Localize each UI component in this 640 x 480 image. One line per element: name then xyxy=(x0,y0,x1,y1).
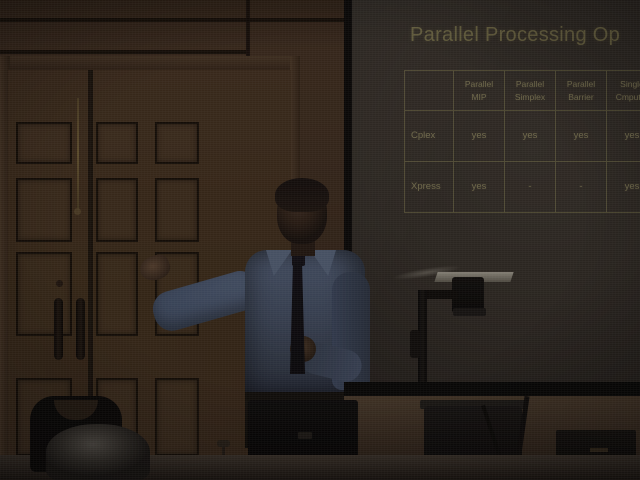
wall-trim-lower xyxy=(0,50,246,54)
microphone-icon xyxy=(217,440,230,447)
table-cell: yes xyxy=(454,111,505,162)
overhead-projector-body xyxy=(424,406,522,462)
table-header-cell-single-computer: Single Cmputer xyxy=(607,71,640,111)
overhead-projector-focus-knob[interactable] xyxy=(410,330,420,358)
presenter-hair xyxy=(275,178,329,212)
table-row-label: Cplex xyxy=(405,111,454,162)
table-cell: - xyxy=(556,162,607,213)
door-panel xyxy=(16,178,72,242)
equipment-indicator xyxy=(590,448,608,452)
table-row-cplex: Cplex yes yes yes yes xyxy=(405,111,640,162)
door-frame-header xyxy=(0,56,300,70)
laptop[interactable] xyxy=(248,400,358,462)
table-header-cell-parallel-mip: Parallel MIP xyxy=(454,71,505,111)
wall-trim-vertical xyxy=(246,0,250,56)
wall-upper-section xyxy=(0,0,360,52)
door-panel xyxy=(96,122,138,164)
header-line-1: Parallel xyxy=(454,78,504,90)
table-cell: yes xyxy=(556,111,607,162)
header-line-1: Parallel xyxy=(505,78,555,90)
overhead-projector-lens xyxy=(453,308,486,316)
table-corner-cell xyxy=(405,71,454,111)
door-handle-right[interactable] xyxy=(76,298,85,360)
door-panel xyxy=(16,122,72,164)
hanging-chain xyxy=(77,98,79,210)
slide-comparison-table: Parallel MIP Parallel Simplex Parallel B… xyxy=(404,70,640,213)
table-cell: yes xyxy=(607,162,640,213)
header-line-1: Single xyxy=(607,78,640,90)
door-panel xyxy=(96,252,138,336)
door-panel xyxy=(96,178,138,242)
table-header-cell-parallel-simplex: Parallel Simplex xyxy=(505,71,556,111)
table-shadow-band xyxy=(344,382,640,396)
table-cell: - xyxy=(505,162,556,213)
door-handle-left[interactable] xyxy=(54,298,63,360)
table-row-label: Xpress xyxy=(405,162,454,213)
audience-member-head xyxy=(46,424,150,480)
door-panel xyxy=(155,122,199,164)
chain-weight xyxy=(74,208,81,215)
header-line-2: MIP xyxy=(454,91,504,103)
header-line-1: Parallel xyxy=(556,78,606,90)
header-line-2: Simplex xyxy=(505,91,555,103)
wall-trim-upper xyxy=(0,18,360,22)
door-lock[interactable] xyxy=(56,280,63,287)
presentation-photo: Parallel Processing Op Parallel MIP Para… xyxy=(0,0,640,480)
door-panel xyxy=(16,252,72,336)
slide-title: Parallel Processing Op xyxy=(410,24,620,47)
header-line-2: Cmputer xyxy=(607,91,640,103)
table-cell: yes xyxy=(454,162,505,213)
header-line-2: Barrier xyxy=(556,91,606,103)
table-row-xpress: Xpress yes - - yes xyxy=(405,162,640,213)
table-header-row: Parallel MIP Parallel Simplex Parallel B… xyxy=(405,71,640,111)
table-cell: yes xyxy=(607,111,640,162)
table-header-cell-parallel-barrier: Parallel Barrier xyxy=(556,71,607,111)
laptop-logo xyxy=(298,432,312,439)
table-cell: yes xyxy=(505,111,556,162)
